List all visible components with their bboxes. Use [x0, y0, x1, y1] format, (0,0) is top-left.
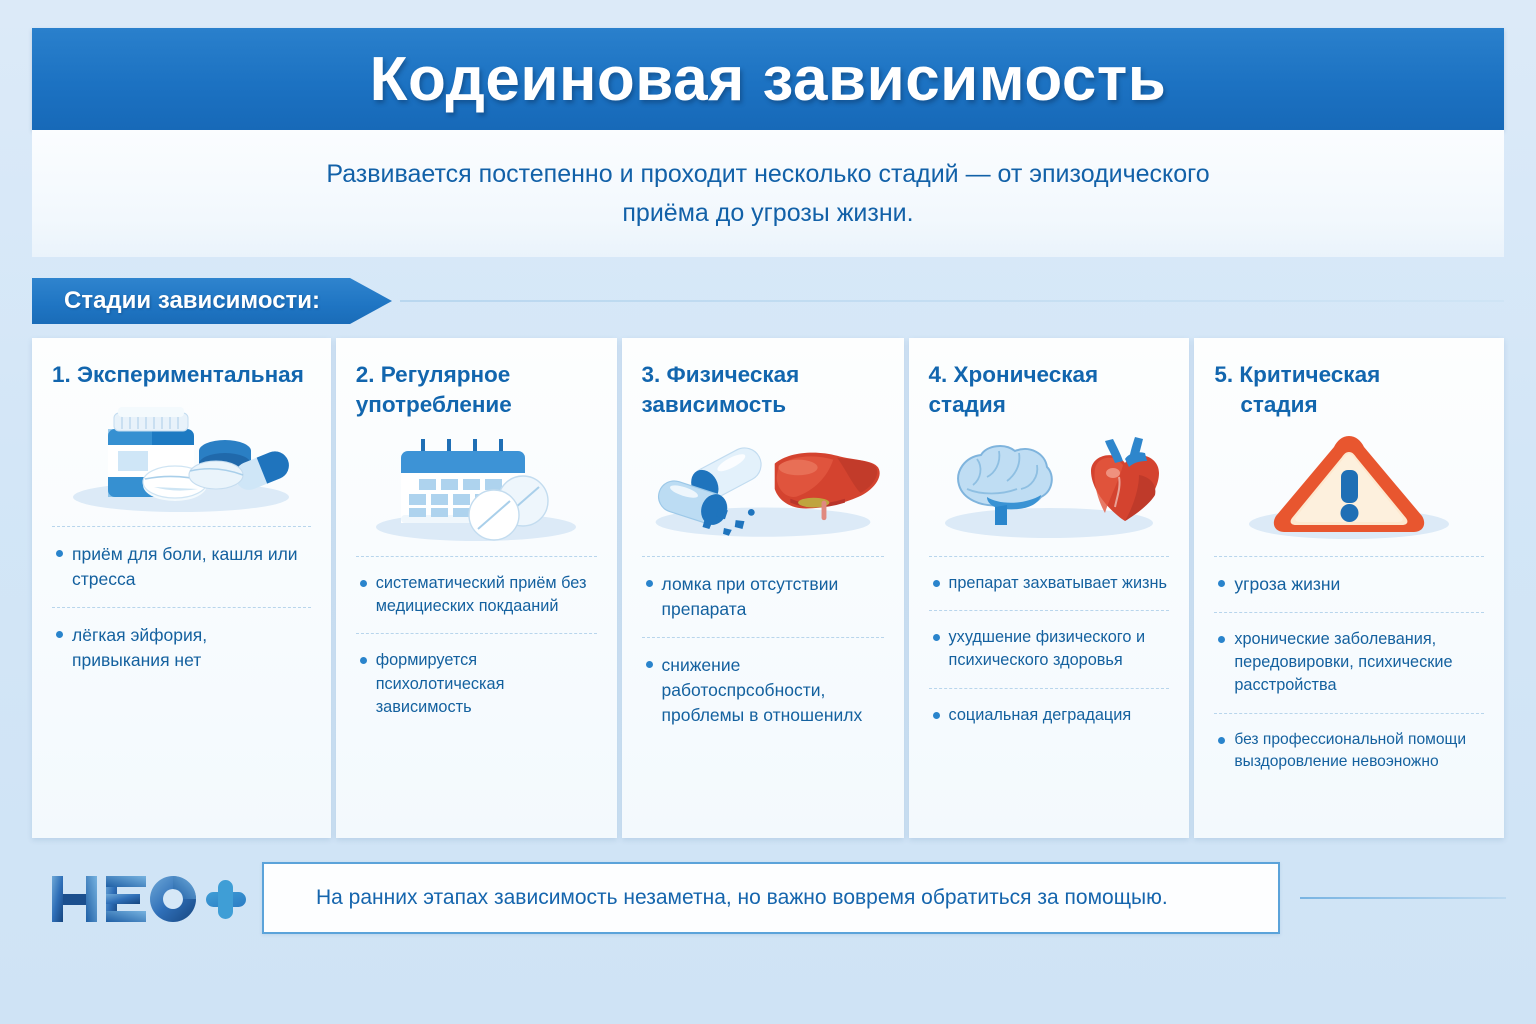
- bullet-dot-icon: [1218, 580, 1225, 587]
- section-banner-wrap: Стадии зависимости:: [32, 278, 1504, 324]
- bullet-text: приём для боли, кашля или стресса: [72, 542, 309, 592]
- section-banner: Стадии зависимости:: [32, 278, 392, 324]
- title-bar: Кодеиновая зависимость: [32, 28, 1504, 130]
- bullet-text: хронические заболевания, передовировки, …: [1234, 628, 1482, 698]
- stage-card-4-bullets: препарат захватывает жизнь ухудшение физ…: [929, 556, 1170, 742]
- list-item: угроза жизни: [1214, 556, 1484, 612]
- list-item: социальная деградация: [929, 688, 1170, 742]
- list-item: хронические заболевания, передовировки, …: [1214, 612, 1484, 713]
- neo-plus-logo: [48, 866, 248, 932]
- stage-card-4-title: 4. Хроническая стадия: [929, 360, 1170, 420]
- bullet-text: ухудшение физического и психического здо…: [949, 626, 1168, 673]
- stage-card-3: 3. Физическая зависимость: [622, 338, 904, 838]
- stage-card-2-title: 2. Регулярное употребление: [356, 360, 597, 420]
- bullet-text: лёгкая эйфория, привыкания нет: [72, 623, 309, 673]
- stage-card-4-title-line2: стадия: [929, 392, 1006, 417]
- warning-triangle-icon: [1214, 428, 1484, 546]
- brain-and-heart-icon: [929, 428, 1170, 546]
- list-item: препарат захватывает жизнь: [929, 556, 1170, 610]
- stage-card-5: 5. Критическая стадия угроза жизни: [1194, 338, 1504, 838]
- infographic-page: Кодеиновая зависимость Развивается посте…: [0, 0, 1536, 1024]
- bullet-dot-icon: [933, 634, 940, 641]
- list-item: ухудшение физического и психического здо…: [929, 610, 1170, 688]
- list-item: снижение работоспрсобности, проблемы в о…: [642, 637, 884, 743]
- bullet-dot-icon: [360, 657, 367, 664]
- stages-card-row: 1. Экспериментальная: [32, 338, 1504, 838]
- page-title: Кодеиновая зависимость: [370, 44, 1167, 115]
- stage-card-3-bullets: ломка при отсутствии препарата снижение …: [642, 556, 884, 743]
- bullet-dot-icon: [1218, 737, 1225, 744]
- stage-card-5-bullets: угроза жизни хронические заболевания, пе…: [1214, 556, 1484, 789]
- calendar-and-tablets-icon: [356, 428, 597, 546]
- list-item: лёгкая эйфория, привыкания нет: [52, 607, 311, 688]
- pill-bottle-and-tablets-icon: [52, 398, 311, 516]
- bullet-text: формируется психолотическая зависимость: [376, 649, 595, 719]
- list-item: приём для боли, кашля или стресса: [52, 526, 311, 607]
- bullet-dot-icon: [360, 580, 367, 587]
- bullet-dot-icon: [56, 631, 63, 638]
- bullet-dot-icon: [1218, 636, 1225, 643]
- banner-divider-line: [400, 300, 1504, 302]
- subtitle-text: Развивается постепенно и проходит нескол…: [326, 155, 1209, 233]
- stage-card-2-title-line2: употребление: [356, 392, 512, 417]
- section-banner-label: Стадии зависимости:: [32, 287, 320, 315]
- stage-card-4-title-line1: 4. Хроническая: [929, 362, 1099, 387]
- stage-card-3-title-line1: 3. Физическая: [642, 362, 800, 387]
- bullet-dot-icon: [933, 580, 940, 587]
- capsule-and-liver-icon: [642, 428, 884, 546]
- footer-divider-line: [1300, 897, 1506, 899]
- stage-card-5-title-line2: стадия: [1214, 390, 1484, 420]
- bullet-text: препарат захватывает жизнь: [949, 572, 1168, 595]
- stage-card-1: 1. Экспериментальная: [32, 338, 331, 838]
- list-item: систематический приём без медициеских по…: [356, 556, 597, 634]
- stage-card-2-title-line1: 2. Регулярное: [356, 362, 511, 387]
- bullet-text: систематический приём без медициеских по…: [376, 572, 595, 619]
- bullet-dot-icon: [56, 550, 63, 557]
- stage-card-3-title-line2: зависимость: [642, 392, 787, 417]
- bullet-text: без профессиональной помощи выздоровлени…: [1234, 729, 1482, 774]
- subtitle-line-1: Развивается постепенно и проходит нескол…: [326, 155, 1209, 194]
- stage-card-2: 2. Регулярное употребление: [336, 338, 617, 838]
- footer-note-box: На ранних этапах зависимость незаметна, …: [262, 862, 1280, 934]
- list-item: ломка при отсутствии препарата: [642, 556, 884, 637]
- subtitle-panel: Развивается постепенно и проходит нескол…: [32, 130, 1504, 257]
- bullet-dot-icon: [933, 712, 940, 719]
- subtitle-line-2: приёма до угрозы жизни.: [326, 194, 1209, 233]
- bullet-text: ломка при отсутствии препарата: [662, 572, 882, 622]
- list-item: формируется психолотическая зависимость: [356, 633, 597, 734]
- bullet-dot-icon: [646, 661, 653, 668]
- bullet-dot-icon: [646, 580, 653, 587]
- stage-card-1-bullets: приём для боли, кашля или стресса лёгкая…: [52, 526, 311, 688]
- stage-card-3-title: 3. Физическая зависимость: [642, 360, 884, 420]
- footer-note-text: На ранних этапах зависимость незаметна, …: [264, 886, 1168, 910]
- stage-card-5-title-line1: 5. Критическая: [1214, 362, 1380, 387]
- stage-card-4: 4. Хроническая стадия: [909, 338, 1190, 838]
- bullet-text: социальная деградация: [949, 704, 1168, 727]
- stage-card-5-title: 5. Критическая стадия: [1214, 360, 1484, 420]
- list-item: без профессиональной помощи выздоровлени…: [1214, 713, 1484, 789]
- bullet-text: угроза жизни: [1234, 572, 1482, 597]
- stage-card-2-bullets: систематический приём без медициеских по…: [356, 556, 597, 734]
- bullet-text: снижение работоспрсобности, проблемы в о…: [662, 653, 882, 728]
- stage-card-1-title: 1. Экспериментальная: [52, 360, 311, 390]
